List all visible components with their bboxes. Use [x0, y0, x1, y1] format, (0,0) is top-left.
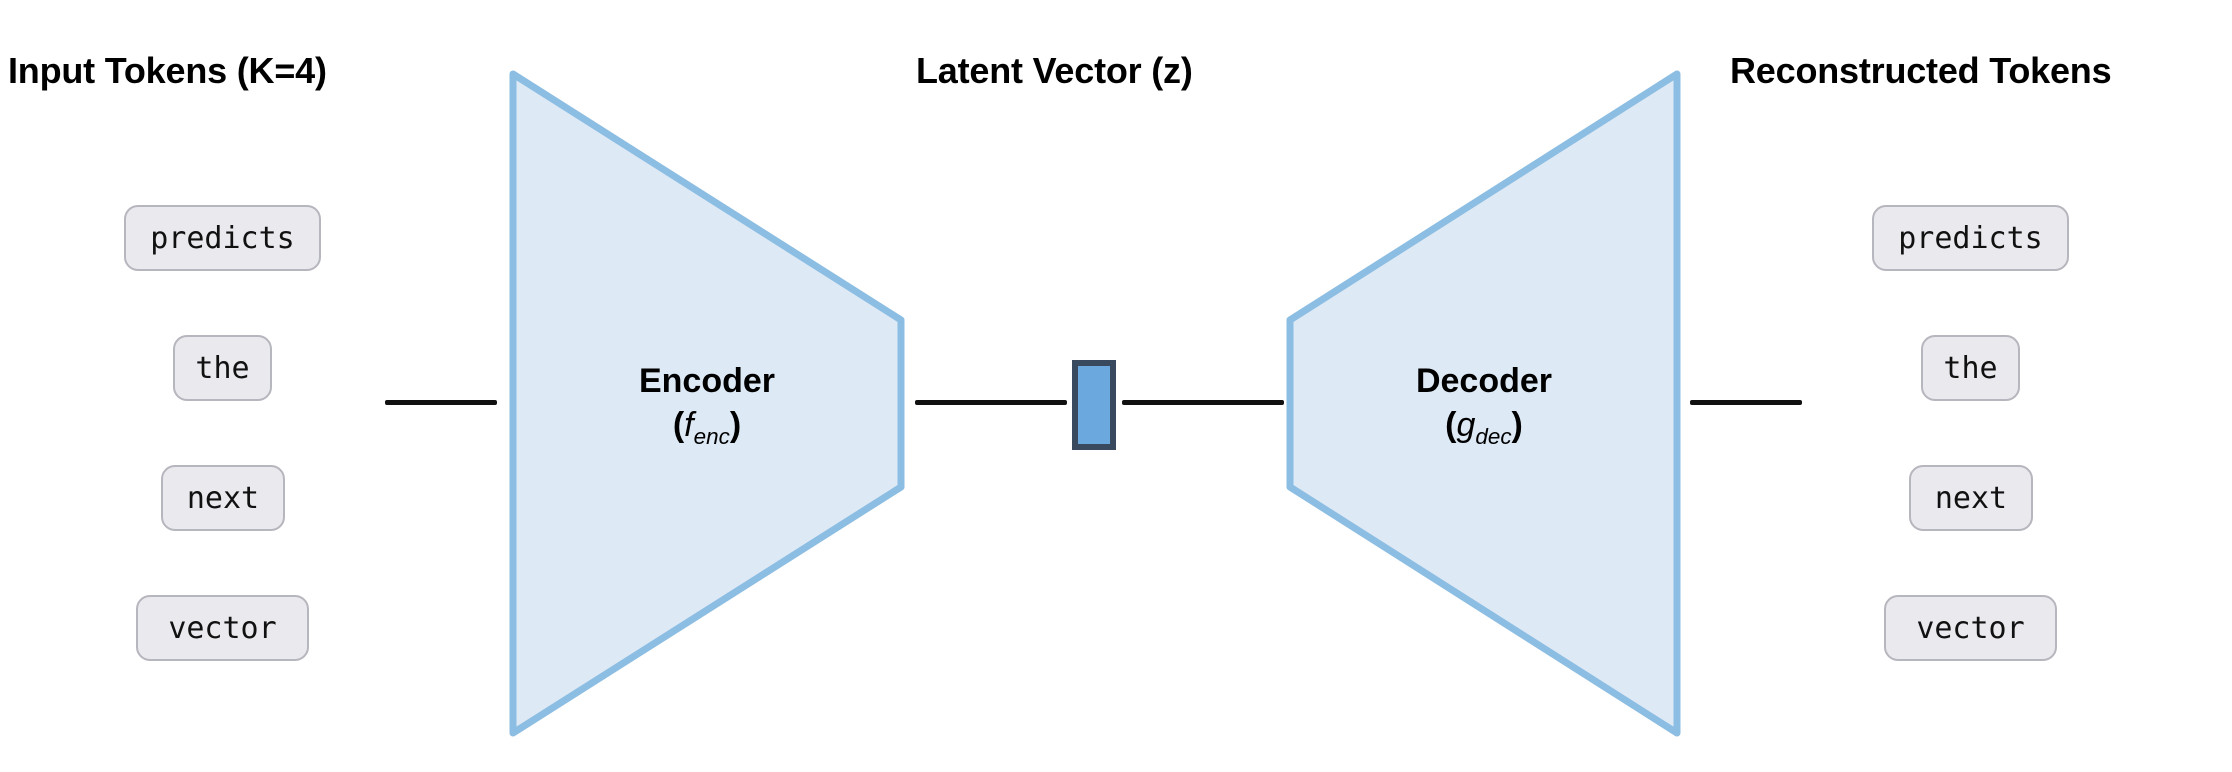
input-token-1[interactable]: the: [173, 335, 272, 401]
output-token-2-label: next: [1935, 481, 2007, 516]
encoder-fn-subscript: enc: [694, 423, 730, 448]
output-token-3[interactable]: vector: [1884, 595, 2057, 661]
input-tokens-title: Input Tokens (K=4): [8, 50, 327, 92]
encoder-label: Encoder (fenc): [513, 360, 901, 451]
output-token-3-label: vector: [1916, 611, 2024, 646]
input-token-2[interactable]: next: [161, 465, 285, 531]
decoder-paren-close: ): [1512, 406, 1523, 444]
encoder-paren-close: ): [730, 406, 741, 444]
decoder-paren-open: (: [1445, 406, 1456, 444]
encoder-function: (fenc): [513, 404, 901, 452]
reconstructed-tokens-title: Reconstructed Tokens: [1730, 50, 2111, 92]
connector-input-to-encoder: [385, 400, 497, 405]
connector-decoder-to-output: [1690, 400, 1802, 405]
connector-encoder-to-latent: [915, 400, 1067, 405]
output-token-1-label: the: [1943, 351, 1997, 386]
input-token-3-label: vector: [168, 611, 276, 646]
output-token-2[interactable]: next: [1909, 465, 2033, 531]
output-token-1[interactable]: the: [1921, 335, 2020, 401]
input-token-3[interactable]: vector: [136, 595, 309, 661]
input-token-0[interactable]: predicts: [124, 205, 321, 271]
output-token-0-label: predicts: [1898, 221, 2043, 256]
decoder-fn-subscript: dec: [1475, 423, 1511, 448]
input-token-1-label: the: [195, 351, 249, 386]
encoder-name: Encoder: [513, 360, 901, 404]
latent-vector-title: Latent Vector (z): [916, 50, 1193, 92]
encoder-paren-open: (: [673, 406, 684, 444]
decoder-label: Decoder (gdec): [1290, 360, 1678, 451]
latent-vector-box: [1072, 360, 1116, 450]
output-token-0[interactable]: predicts: [1872, 205, 2069, 271]
decoder-function: (gdec): [1290, 404, 1678, 452]
diagram-canvas: Input Tokens (K=4) Latent Vector (z) Rec…: [0, 0, 2232, 772]
decoder-name: Decoder: [1290, 360, 1678, 404]
input-token-0-label: predicts: [150, 221, 295, 256]
decoder-fn-letter: gdec: [1456, 406, 1511, 444]
encoder-fn-letter: fenc: [684, 406, 730, 444]
connector-latent-to-decoder: [1122, 400, 1284, 405]
input-token-2-label: next: [187, 481, 259, 516]
